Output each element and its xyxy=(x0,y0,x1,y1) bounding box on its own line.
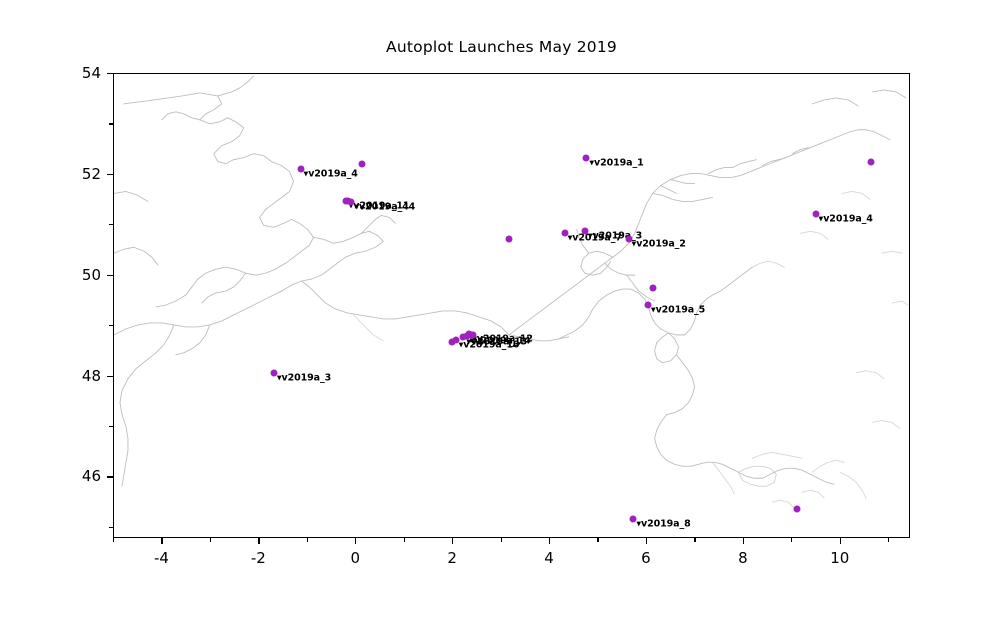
x-tick-major xyxy=(161,538,162,544)
scatter-point[interactable] xyxy=(794,505,801,512)
x-tick-minor xyxy=(791,538,792,542)
y-tick-label: 48 xyxy=(82,367,101,385)
y-tick-minor xyxy=(109,426,113,427)
x-tick-major xyxy=(840,538,841,544)
y-axis-labels: 4648505254 xyxy=(0,0,101,633)
page-title: Autoplot Launches May 2019 xyxy=(0,38,1003,56)
scatter-point[interactable] xyxy=(345,197,352,204)
y-tick-label: 52 xyxy=(82,165,101,183)
scatter-point-label: ▾v2019a_3 xyxy=(277,372,331,383)
scatter-point[interactable] xyxy=(867,159,874,166)
scatter-points-layer: ▾v2019a_4▾v2019a_11▾v2019a_44▾v2019a_3▾v… xyxy=(114,74,909,537)
x-tick-major xyxy=(258,538,259,544)
x-tick-minor xyxy=(597,538,598,542)
x-tick-label: 8 xyxy=(738,549,748,567)
scatter-point-label: ▾v2019a_8 xyxy=(636,518,690,529)
y-tick-minor xyxy=(109,224,113,225)
y-tick-major xyxy=(107,476,113,477)
scatter-point-label: ▾v2019a_2 xyxy=(632,239,686,250)
x-tick-major xyxy=(549,538,550,544)
scatter-point[interactable] xyxy=(649,285,656,292)
x-tick-minor xyxy=(307,538,308,542)
x-tick-label: 6 xyxy=(641,549,651,567)
matplotlib-figure: Autoplot Launches May 2019 xyxy=(0,0,1003,633)
x-tick-label: 0 xyxy=(350,549,360,567)
scatter-point-label: ▾v2019a_1 xyxy=(589,158,643,169)
x-tick-label: -2 xyxy=(251,549,266,567)
x-tick-minor xyxy=(113,538,114,542)
y-tick-minor xyxy=(109,123,113,124)
x-tick-label: 10 xyxy=(830,549,849,567)
scatter-point-label: ▾v2019a_4 xyxy=(304,168,358,179)
x-tick-minor xyxy=(404,538,405,542)
x-tick-major xyxy=(452,538,453,544)
x-tick-major xyxy=(743,538,744,544)
x-tick-major xyxy=(646,538,647,544)
scatter-point-label: ▾v2019a_4 xyxy=(819,214,873,225)
x-tick-label: 4 xyxy=(544,549,554,567)
x-tick-minor xyxy=(888,538,889,542)
x-tick-minor xyxy=(694,538,695,542)
y-tick-minor xyxy=(109,527,113,528)
x-tick-minor xyxy=(501,538,502,542)
map-axes[interactable]: ▾v2019a_4▾v2019a_11▾v2019a_44▾v2019a_3▾v… xyxy=(113,73,910,538)
y-tick-label: 54 xyxy=(82,64,101,82)
x-tick-label: 2 xyxy=(447,549,457,567)
x-tick-minor xyxy=(210,538,211,542)
scatter-point[interactable] xyxy=(449,339,456,346)
scatter-point-label: ▾v2019a_5 xyxy=(651,304,705,315)
x-tick-major xyxy=(355,538,356,544)
y-tick-major xyxy=(107,174,113,175)
y-tick-label: 46 xyxy=(82,467,101,485)
y-tick-major xyxy=(107,376,113,377)
scatter-point-label: ▾v2019a_13 xyxy=(466,337,527,348)
y-tick-label: 50 xyxy=(82,266,101,284)
x-tick-label: -4 xyxy=(154,549,169,567)
y-tick-major xyxy=(107,73,113,74)
scatter-point[interactable] xyxy=(505,235,512,242)
scatter-point[interactable] xyxy=(469,331,476,338)
scatter-point[interactable] xyxy=(359,160,366,167)
scatter-point-label: ▾v2019a_44 xyxy=(354,201,415,212)
y-tick-major xyxy=(107,275,113,276)
y-tick-minor xyxy=(109,325,113,326)
